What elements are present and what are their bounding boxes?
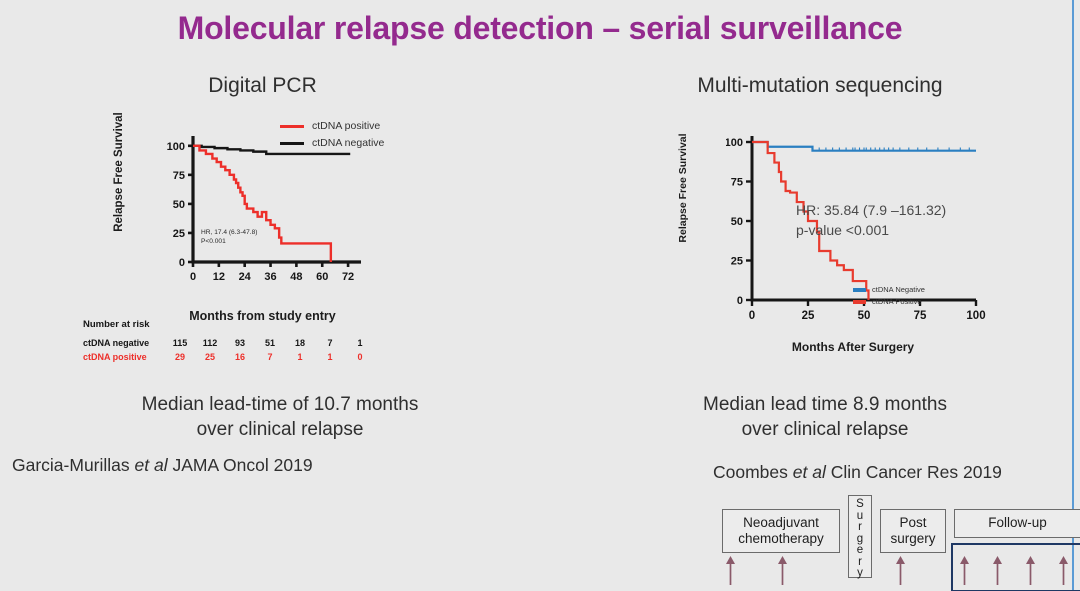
right-hazard-ratio: HR: 35.84 (7.9 –161.32) [796,200,946,220]
risk-row-label: ctDNA positive [83,350,165,364]
treatment-timeline-diagram: Neoadjuvant chemotherapy Surgery Post su… [706,493,1080,591]
left-panel-caption: Median lead-time of 10.7 months over cli… [100,392,460,442]
svg-text:75: 75 [731,177,743,189]
right-caption-line-1: Median lead time 8.9 months [640,392,1010,417]
presentation-slide: Molecular relapse detection – serial sur… [0,0,1080,591]
risk-row-value: 1 [315,350,345,364]
legend-label-ctdna-negative-right: ctDNA Negative [872,285,925,294]
legend-swatch-icon-negative-right [853,288,866,292]
panel-heading-right: Multi-mutation sequencing [660,74,980,98]
panel-heading-left: Digital PCR [140,74,385,98]
right-chart-statistics: HR: 35.84 (7.9 –161.32) p-value <0.001 [796,200,946,241]
risk-row-value: 0 [345,350,375,364]
right-citation-journal: Clin Cancer Res 2019 [826,462,1002,482]
risk-table-grid: ctDNA negative11511293511871ctDNA positi… [83,336,375,364]
svg-text:75: 75 [173,170,185,182]
risk-row-value: 18 [285,336,315,350]
risk-row-value: 115 [165,336,195,350]
timeline-sampling-arrow-follow-up [1057,555,1070,585]
timeline-box-surgery: Surgery [848,495,872,578]
svg-text:60: 60 [316,271,328,283]
risk-row-label: ctDNA negative [83,336,165,350]
timeline-sampling-arrow-follow-up [958,555,971,585]
right-chart-x-axis-label: Months After Surgery [718,340,988,354]
svg-text:0: 0 [749,310,755,322]
timeline-neoadjuvant-line-1: Neoadjuvant [743,515,819,530]
risk-table-row: ctDNA positive2925167110 [83,350,375,364]
legend-label-ctdna-positive-right: ctDNA Positive [872,297,922,306]
risk-row-value: 29 [165,350,195,364]
legend-swatch-icon-positive-right [853,300,866,304]
legend-entry-ctdna-positive: ctDNA positive [280,120,384,132]
right-citation-etal: et al [793,462,826,482]
timeline-post-line-1: Post [899,515,926,530]
svg-text:100: 100 [966,310,985,322]
svg-text:0: 0 [737,295,743,307]
right-p-value: p-value <0.001 [796,220,946,240]
risk-row-value: 7 [255,350,285,364]
right-chart-y-axis-label: Relapse Free Survival [677,123,689,253]
right-chart-legend: ctDNA Negative ctDNA Positive [853,285,925,309]
risk-row-value: 1 [345,336,375,350]
number-at-risk-table: Number at risk ctDNA negative11511293511… [83,319,383,364]
svg-text:25: 25 [173,228,185,240]
timeline-sampling-arrow-neoadjuvant [776,555,789,585]
svg-text:100: 100 [726,137,743,149]
legend-label-ctdna-positive: ctDNA positive [312,120,380,132]
svg-text:HR, 17.4 (6.3-47.8): HR, 17.4 (6.3-47.8) [201,229,257,236]
left-chart-y-axis-label: Relapse Free Survival [113,112,125,232]
risk-row-value: 7 [315,336,345,350]
timeline-box-neoadjuvant-chemotherapy: Neoadjuvant chemotherapy [722,509,840,553]
legend-entry-ctdna-positive-right: ctDNA Positive [853,297,925,306]
risk-row-value: 51 [255,336,285,350]
risk-table-row: ctDNA negative11511293511871 [83,336,375,350]
svg-text:P<0.001: P<0.001 [201,238,226,245]
left-panel-citation: Garcia-Murillas et al JAMA Oncol 2019 [12,455,313,476]
svg-text:0: 0 [190,271,196,283]
timeline-sampling-arrow-follow-up [1024,555,1037,585]
slide-title: Molecular relapse detection – serial sur… [0,10,1080,47]
timeline-sampling-arrow-follow-up [991,555,1004,585]
number-at-risk-title: Number at risk [83,319,383,330]
timeline-box-follow-up: Follow-up [954,509,1080,538]
timeline-box-post-surgery: Post surgery [880,509,946,553]
timeline-sampling-arrow-neoadjuvant [724,555,737,585]
timeline-neoadjuvant-line-2: chemotherapy [738,531,824,546]
risk-row-value: 25 [195,350,225,364]
legend-swatch-icon-positive [280,125,304,128]
left-citation-author: Garcia-Murillas [12,455,135,475]
timeline-followup-label: Follow-up [988,515,1047,531]
svg-text:0: 0 [179,257,185,269]
left-citation-journal: JAMA Oncol 2019 [168,455,313,475]
right-citation-author: Coombes [713,462,793,482]
svg-text:12: 12 [213,271,225,283]
timeline-post-line-2: surgery [890,531,935,546]
risk-row-value: 93 [225,336,255,350]
legend-entry-ctdna-negative-right: ctDNA Negative [853,285,925,294]
timeline-sampling-arrow-post-surgery [894,555,907,585]
svg-text:50: 50 [858,310,871,322]
left-citation-etal: et al [135,455,168,475]
multi-mutation-figure: Relapse Free Survival 025507510002550751… [648,122,988,367]
svg-text:48: 48 [290,271,302,283]
right-panel-caption: Median lead time 8.9 months over clinica… [640,392,1010,442]
svg-text:72: 72 [342,271,354,283]
svg-text:100: 100 [167,141,185,153]
timeline-surgery-letter: e [857,545,863,557]
svg-text:24: 24 [239,271,252,283]
right-caption-line-2: over clinical relapse [640,417,1010,442]
risk-row-value: 1 [285,350,315,364]
timeline-surgery-letter: S [856,499,864,511]
left-chart-annotations: HR, 17.4 (6.3-47.8)P<0.001 [201,229,257,245]
timeline-surgery-letter: r [858,522,862,534]
left-caption-line-2: over clinical relapse [100,417,460,442]
svg-text:25: 25 [731,256,743,268]
digital-pcr-figure: ctDNA positive ctDNA negative Relapse Fr… [75,112,435,377]
left-caption-line-1: Median lead-time of 10.7 months [100,392,460,417]
svg-text:50: 50 [731,216,743,228]
left-km-plot: 02550751000122436486072 HR, 17.4 (6.3-47… [163,134,363,289]
risk-row-value: 112 [195,336,225,350]
svg-text:50: 50 [173,199,185,211]
svg-text:25: 25 [802,310,815,322]
right-panel-citation: Coombes et al Clin Cancer Res 2019 [713,462,1002,483]
svg-text:36: 36 [264,271,276,283]
timeline-surgery-letter: y [857,568,863,580]
svg-text:75: 75 [914,310,927,322]
risk-row-value: 16 [225,350,255,364]
